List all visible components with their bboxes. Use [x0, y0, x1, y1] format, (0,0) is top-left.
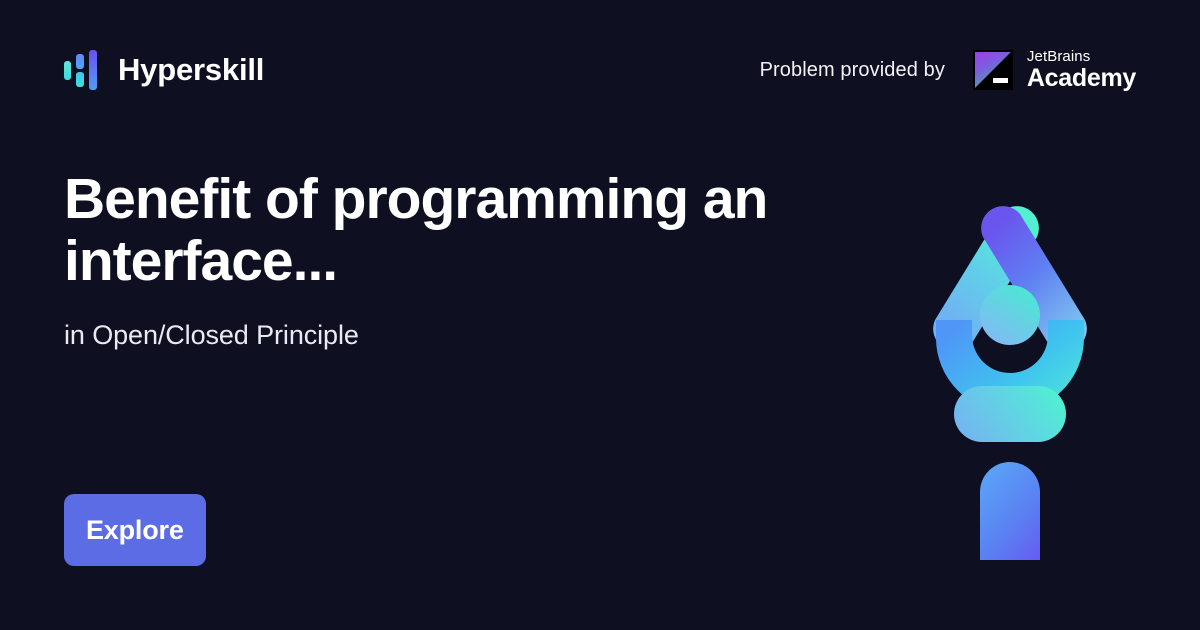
hyperskill-bar-mid-top-icon [76, 54, 84, 69]
page-title: Benefit of programming an interface... [64, 168, 804, 292]
card-header: Hyperskill Problem provided by JetBrains… [0, 0, 1200, 140]
emblem-vertical-bar [980, 462, 1040, 560]
jetbrains-wordmark-line2: Academy [1027, 66, 1136, 91]
hyperskill-brand-name: Hyperskill [118, 52, 264, 88]
hyperskill-arch-emblem-icon [910, 180, 1110, 560]
provider-label: Problem provided by [760, 59, 945, 82]
main-content: Benefit of programming an interface... i… [64, 168, 854, 352]
hyperskill-bars-icon [64, 50, 100, 90]
explore-button[interactable]: Explore [64, 494, 206, 566]
hyperskill-bar-mid-bottom-icon [76, 72, 84, 87]
emblem-horizontal-pill [954, 386, 1066, 442]
jetbrains-academy-wordmark: JetBrains Academy [1027, 49, 1136, 91]
hyperskill-bar-left-icon [64, 61, 71, 80]
jetbrains-dash-icon [993, 78, 1008, 83]
jetbrains-wordmark-line1: JetBrains [1027, 49, 1136, 64]
page-subtitle: in Open/Closed Principle [64, 318, 854, 352]
problem-card: Hyperskill Problem provided by JetBrains… [0, 0, 1200, 630]
hyperskill-bar-right-icon [89, 50, 97, 90]
provider-block: Problem provided by JetBrains Academy [760, 49, 1136, 91]
hyperskill-brand[interactable]: Hyperskill [64, 50, 264, 90]
jetbrains-academy-logo[interactable]: JetBrains Academy [973, 49, 1136, 91]
jetbrains-square-icon [973, 50, 1013, 90]
emblem-inner-circle [980, 285, 1040, 345]
